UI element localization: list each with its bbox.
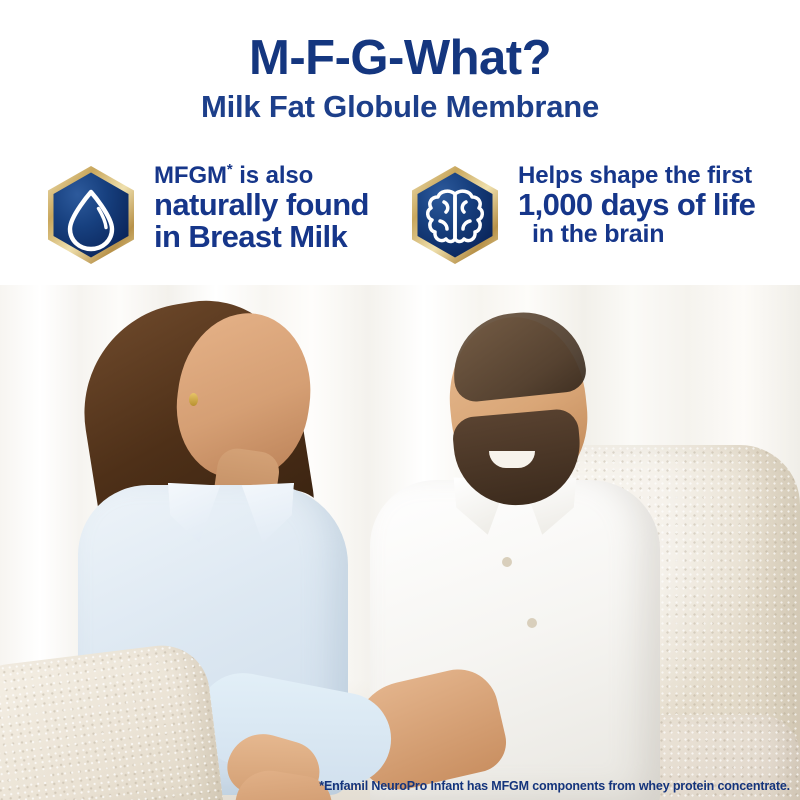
benefits-row: MFGM* is also naturally found in Breast … — [0, 158, 800, 278]
benefit-item-breast-milk: MFGM* is also naturally found in Breast … — [40, 158, 369, 266]
milk-drop-icon — [40, 164, 142, 266]
page-title: M-F-G-What? — [0, 0, 800, 84]
armchair-arm-left — [0, 640, 225, 800]
benefit-line-2: naturally found — [154, 189, 369, 221]
page-subtitle: Milk Fat Globule Membrane — [0, 84, 800, 124]
mother-earring — [189, 393, 198, 406]
father-shirt-button-top — [502, 557, 512, 567]
father-shirt-button-bottom — [527, 618, 537, 628]
family-photo — [0, 285, 800, 800]
milk-drop-badge — [40, 164, 142, 266]
benefit-line-1: Helps shape the first — [518, 164, 755, 189]
brain-icon — [404, 164, 506, 266]
benefit-line-3: in Breast Milk — [154, 221, 369, 253]
headline-block: M-F-G-What? Milk Fat Globule Membrane — [0, 0, 800, 150]
benefit-text-breast-milk: MFGM* is also naturally found in Breast … — [154, 158, 369, 253]
footnote-disclaimer: *Enfamil NeuroPro Infant has MFGM compon… — [0, 779, 790, 793]
infographic-page: M-F-G-What? Milk Fat Globule Membrane — [0, 0, 800, 800]
benefit-item-brain: Helps shape the first 1,000 days of life… — [404, 158, 755, 266]
brain-badge — [404, 164, 506, 266]
benefit-line-2: 1,000 days of life — [518, 189, 755, 221]
benefit-line-1: MFGM* is also — [154, 164, 369, 189]
benefit-text-brain: Helps shape the first 1,000 days of life… — [518, 158, 755, 247]
benefit-line-3: in the brain — [518, 221, 755, 247]
